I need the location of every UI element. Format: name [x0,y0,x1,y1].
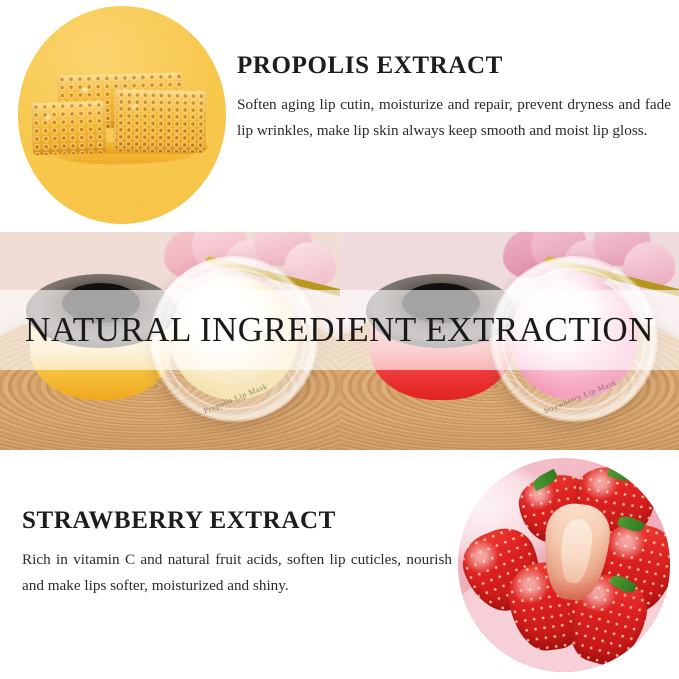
banner-headline: NATURAL INGREDIENT EXTRACTION [0,290,679,370]
ingredient-banner: Propolis Lip Mask [0,232,679,450]
honeycomb-slab-right [113,89,206,153]
strawberry-description: Rich in vitamin C and natural fruit acid… [22,547,452,599]
propolis-text-block: PROPOLIS EXTRACT Soften aging lip cutin,… [237,52,671,144]
honeycomb-image [18,6,226,224]
propolis-description: Soften aging lip cutin, moisturize and r… [237,92,671,144]
product-feature-page: PROPOLIS EXTRACT Soften aging lip cutin,… [0,0,679,679]
strawberry-section: STRAWBERRY EXTRACT Rich in vitamin C and… [0,450,679,679]
berry-halved-core [557,518,594,584]
comb-cells-left [31,101,107,156]
comb-cells-right [113,89,206,153]
strawberry-title: STRAWBERRY EXTRACT [22,507,452,535]
strawberry-text-block: STRAWBERRY EXTRACT Rich in vitamin C and… [22,507,452,599]
strawberries-image [458,458,670,672]
propolis-title: PROPOLIS EXTRACT [237,52,671,80]
honeycomb-slab-left [31,101,107,156]
propolis-section: PROPOLIS EXTRACT Soften aging lip cutin,… [0,0,679,232]
honeycomb-illustration [30,58,214,174]
honey-drip [54,154,194,164]
